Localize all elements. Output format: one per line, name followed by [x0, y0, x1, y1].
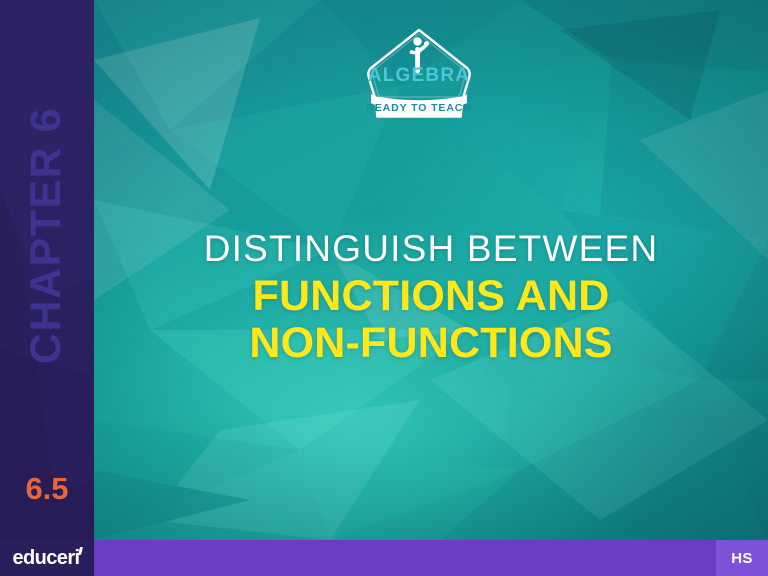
- lesson-title: DISTINGUISH BETWEEN FUNCTIONS AND NON-FU…: [94, 228, 768, 366]
- brand-wordmark-text: educeri: [13, 548, 82, 568]
- algebra-ready-to-teach-logo: ALGEBRA READY TO TEACH: [357, 24, 481, 134]
- chapter-label-text: CHAPTER 6: [26, 106, 69, 363]
- title-line-highlight-2: NON-FUNCTIONS: [94, 320, 768, 366]
- lesson-number: 6.5: [0, 473, 94, 504]
- title-line-highlight-1: FUNCTIONS AND: [94, 273, 768, 319]
- logo-tagline-text: READY TO TEACH: [366, 102, 472, 114]
- brand-logo[interactable]: educeri: [0, 540, 94, 576]
- chapter-label: CHAPTER 6: [0, 0, 94, 470]
- title-line-primary: DISTINGUISH BETWEEN: [94, 228, 768, 269]
- grade-level-badge: HS: [716, 540, 768, 576]
- lesson-title-slide: CHAPTER 6 6.5 ALGEBRA: [0, 0, 768, 576]
- footer-bar: educeri HS: [0, 540, 768, 576]
- chapter-rail: CHAPTER 6 6.5: [0, 0, 94, 540]
- brand-accent-tick-icon: [78, 547, 83, 555]
- logo-subject-text: ALGEBRA: [368, 65, 470, 86]
